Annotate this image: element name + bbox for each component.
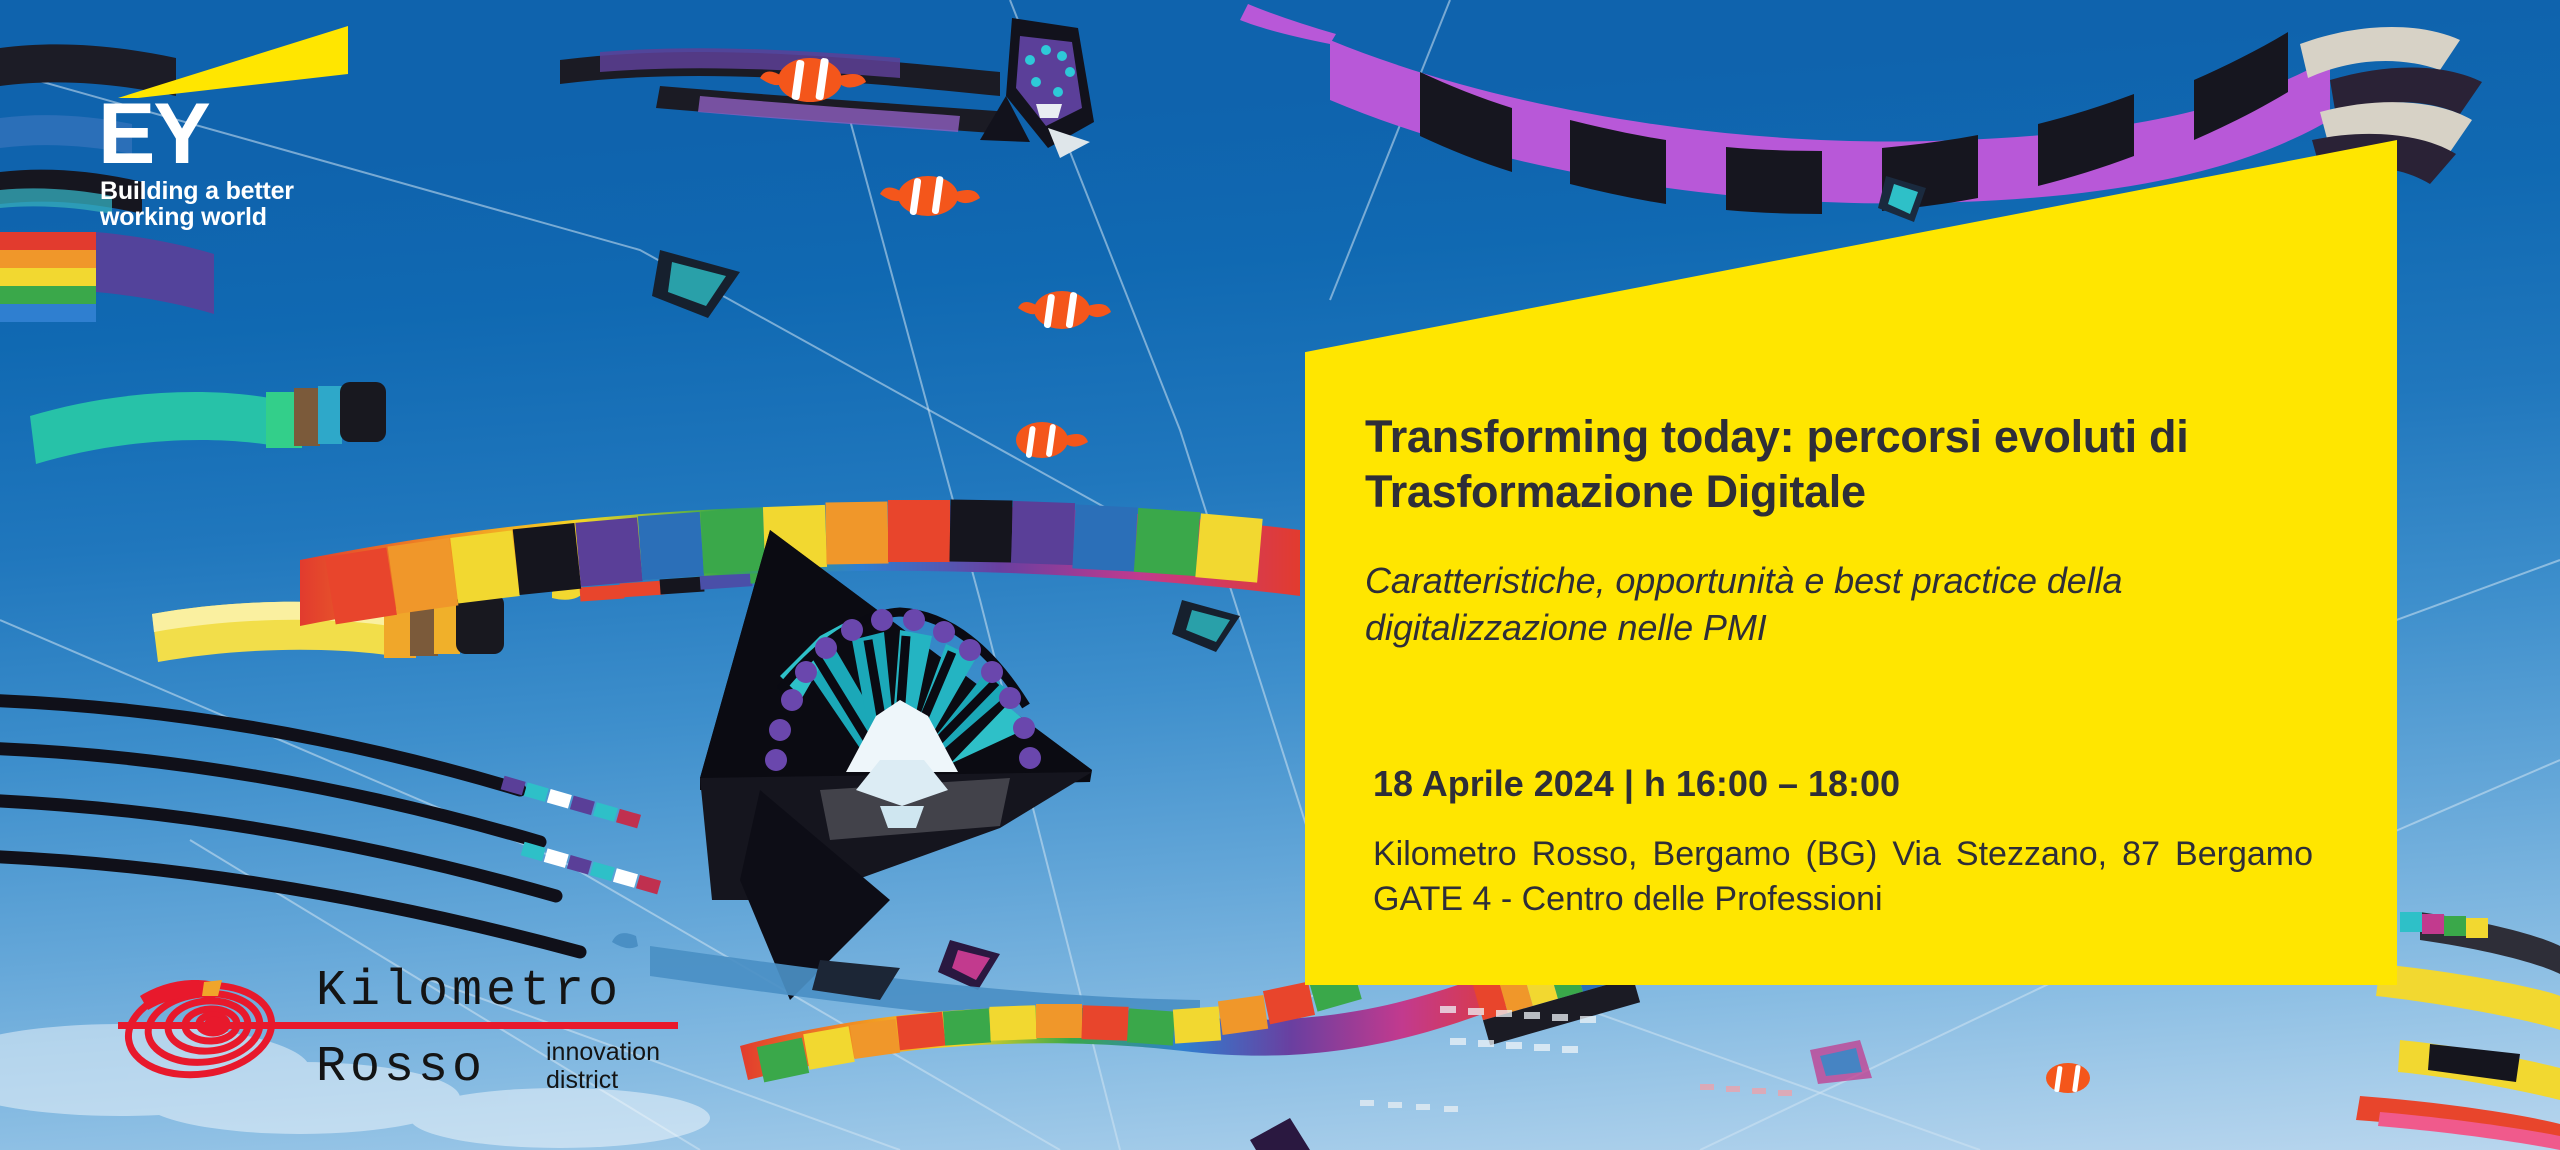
ey-tagline-line1: Building a better (100, 178, 386, 204)
kilometro-rosso-rule (118, 1022, 678, 1029)
event-venue-line2: GATE 4 - Centro delle Professioni (1373, 877, 2313, 922)
kite-small-delta-bottomright (1250, 1118, 1310, 1150)
kite-small-delta-upperleft (652, 250, 740, 318)
event-banner: EY Building a better working world Kilom (0, 0, 2560, 1150)
kite-black-delta-center (700, 530, 1092, 1000)
event-venue: Kilometro Rosso, Bergamo (BG) Via Stezza… (1373, 832, 2313, 922)
kilometro-rosso-logo: Kilometro Rosso innovation district (118, 952, 718, 1102)
event-title: Transforming today: percorsi evoluti di … (1365, 410, 2313, 520)
kite-black-swoop-tails (0, 700, 580, 952)
event-venue-line1: Kilometro Rosso, Bergamo (BG) Via Stezza… (1373, 832, 2313, 877)
ey-wordmark: EY (96, 94, 386, 176)
kilometro-rosso-descriptor-line2: district (546, 1066, 618, 1094)
kite-clownfish-2 (880, 176, 980, 216)
event-subtitle: Caratteristiche, opportunità e best prac… (1365, 558, 2313, 652)
event-info-content: Transforming today: percorsi evoluti di … (1365, 410, 2313, 922)
kite-clownfish-3 (1018, 291, 1111, 329)
kite-teal-windsock (30, 382, 386, 464)
ey-tagline: Building a better working world (96, 178, 386, 230)
kite-small-delta-midright (1172, 600, 1240, 652)
event-date-time: 18 Aprile 2024 | h 16:00 – 18:00 (1373, 761, 2313, 806)
kilometro-rosso-name-line2: Rosso (316, 1039, 486, 1096)
kite-clownfish-5 (2046, 1063, 2090, 1093)
kite-clownfish-4 (1016, 422, 1088, 458)
ey-tagline-line2: working world (100, 204, 386, 230)
kite-small-delta-bottom (938, 940, 1000, 990)
kilometro-rosso-descriptor-line1: innovation (546, 1038, 660, 1066)
ey-logo: EY Building a better working world (96, 24, 386, 230)
kilometro-rosso-name-line1: Kilometro (316, 963, 622, 1020)
